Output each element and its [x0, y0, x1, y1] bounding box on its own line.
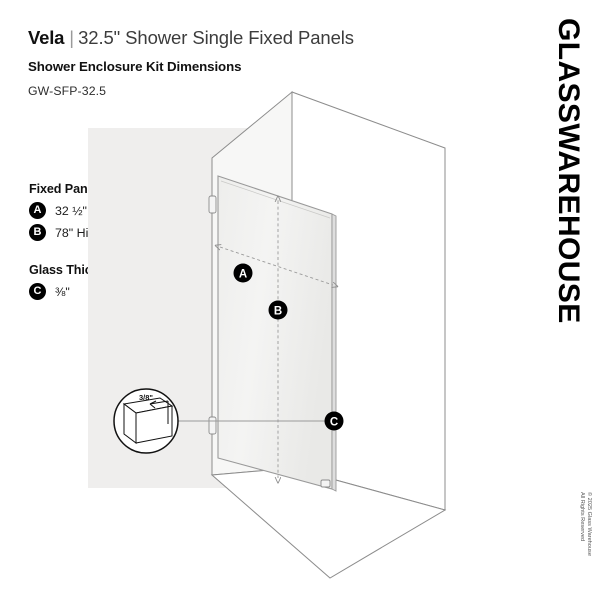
glass-bracket-top — [209, 196, 216, 213]
diagram-marker-b: B — [269, 301, 288, 320]
diagram-marker-b-letter: B — [274, 305, 282, 317]
fixed-glass-panel — [218, 176, 332, 489]
detail-thickness-label: 3/8" — [139, 393, 153, 402]
copyright-line-1: © 2025 Glass Warehouse — [585, 492, 592, 556]
copyright-line-2: All Rights Reserved — [577, 492, 584, 556]
copyright-block: © 2025 Glass Warehouse All Rights Reserv… — [556, 492, 600, 592]
diagram-marker-c: C — [325, 412, 344, 431]
diagram-marker-a-letter: A — [239, 268, 247, 280]
shower-enclosure-isometric-diagram: 3/8" A B C — [0, 0, 600, 600]
brand-wordmark-text: GLASSWAREHOUSE — [553, 18, 583, 324]
glass-bracket-bottom — [209, 417, 216, 434]
brand-wordmark: GLASSWAREHOUSE — [519, 18, 583, 388]
detail-glass-corner-illustration — [124, 398, 172, 443]
detail-glass-right-face — [136, 406, 172, 443]
copyright-lines: © 2025 Glass Warehouse All Rights Reserv… — [577, 492, 592, 556]
glass-edge-thickness — [332, 214, 336, 491]
diagram-marker-c-letter: C — [330, 416, 338, 428]
glass-floor-support — [321, 480, 330, 487]
diagram-marker-a: A — [234, 264, 253, 283]
